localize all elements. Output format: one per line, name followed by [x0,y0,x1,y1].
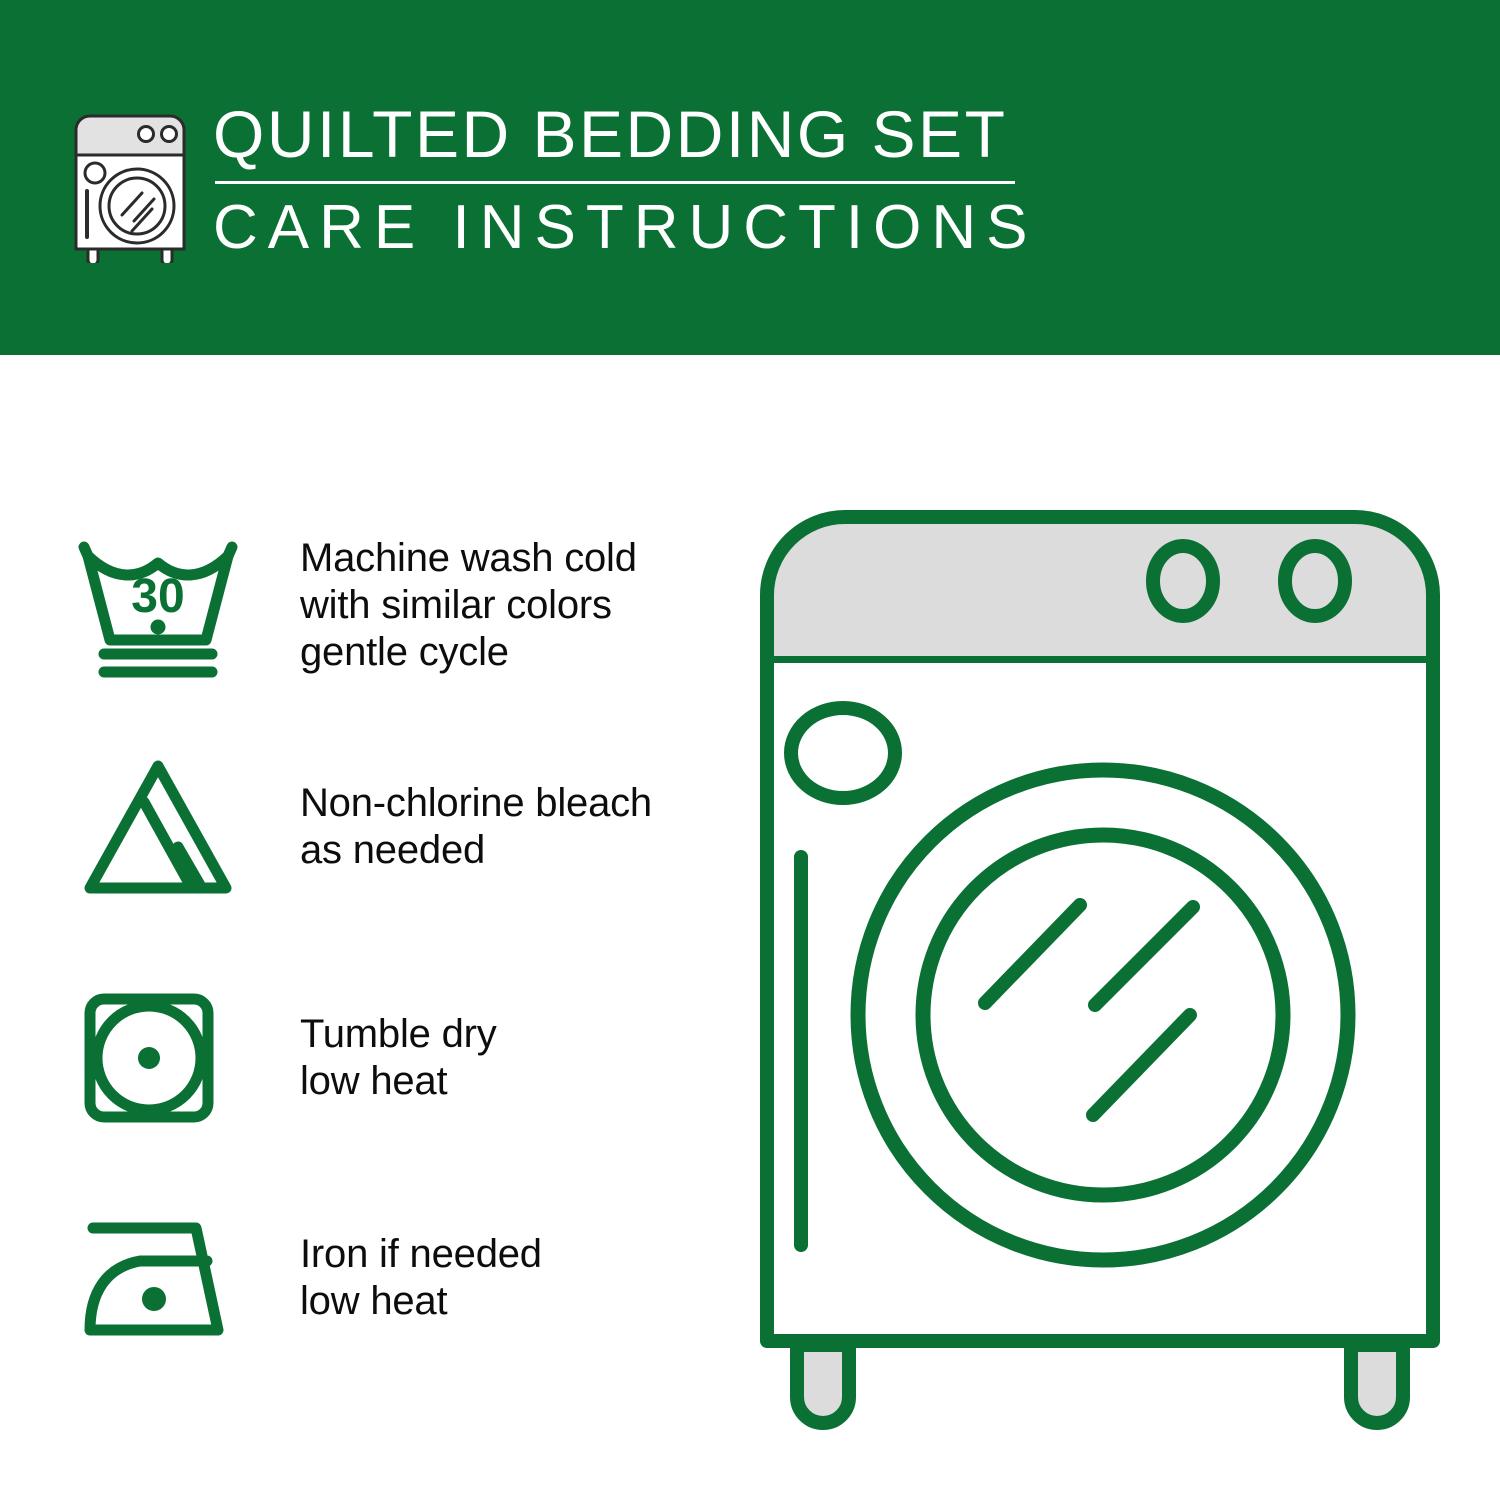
bleach-triangle-icon [68,742,258,912]
detergent-drawer-circle [791,708,895,798]
care-item-bleach: Non-chlorine bleach as needed [0,727,740,927]
washing-machine-icon [62,103,198,263]
care-instructions-page: QUILTED BEDDING SET CARE INSTRUCTIONS 30 [0,0,1500,1500]
care-item-wash: 30 Machine wash cold with similar colors… [0,505,740,705]
page-subtitle: CARE INSTRUCTIONS [213,191,1053,265]
knob-left [1153,546,1213,616]
title-divider [215,181,1015,184]
care-text-wash: Machine wash cold with similar colors ge… [300,535,637,676]
care-instructions-list: 30 Machine wash cold with similar colors… [0,355,740,1500]
tumble-dry-icon [68,973,258,1143]
header-banner: QUILTED BEDDING SET CARE INSTRUCTIONS [0,0,1500,355]
care-text-tumble-dry: Tumble dry low heat [300,1011,497,1105]
care-text-bleach: Non-chlorine bleach as needed [300,780,652,874]
wash-tub-30-icon: 30 [68,520,258,690]
header-text-block: QUILTED BEDDING SET CARE INSTRUCTIONS [213,96,1053,265]
page-title: QUILTED BEDDING SET [213,96,1053,172]
care-text-iron: Iron if needed low heat [300,1231,542,1325]
iron-icon [68,1193,258,1363]
care-item-tumble-dry: Tumble dry low heat [0,958,740,1158]
washing-machine-illustration [735,485,1465,1445]
door-inner-ring [923,835,1283,1195]
wash-temperature-label: 30 [131,570,184,623]
foot-left [797,1345,849,1423]
knob-right [1285,546,1345,616]
foot-right [1351,1345,1403,1423]
care-item-iron: Iron if needed low heat [0,1178,740,1378]
